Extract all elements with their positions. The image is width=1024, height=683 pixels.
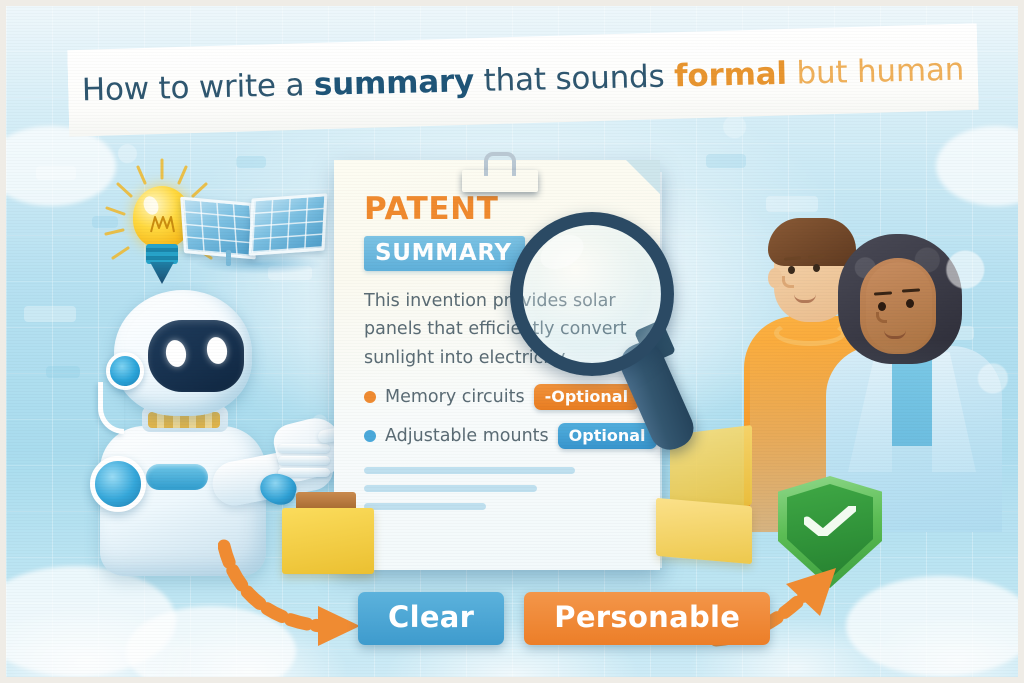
title-part-plain-2: that sounds	[474, 58, 675, 99]
placeholder-line	[364, 503, 486, 510]
woman-eye	[878, 302, 886, 311]
personable-button[interactable]: Personable	[524, 592, 770, 645]
man-eye	[788, 266, 795, 274]
curved-arrow-right-icon	[218, 538, 378, 648]
placeholder-line	[364, 467, 575, 474]
title-part-formal: formal	[674, 55, 788, 94]
title-part-plain-1: How to write a	[81, 66, 314, 107]
document-placeholder-lines	[364, 467, 634, 510]
clear-button[interactable]: Clear	[358, 592, 504, 645]
solar-panel-stand	[226, 250, 231, 266]
title-part-human: but human	[786, 51, 964, 91]
solar-panel-right	[249, 193, 328, 256]
bullet-dot-icon	[364, 430, 376, 442]
man-ear	[768, 268, 782, 288]
robot-visor	[148, 320, 244, 392]
title-part-summary: summary	[313, 63, 474, 103]
robot-shoulder-joint	[90, 456, 146, 512]
illustration-frame: PATENT SUMMARY This invention provides s…	[6, 6, 1018, 677]
magnifier-lens	[510, 212, 674, 376]
solar-panel-shadow	[196, 254, 322, 274]
magnifying-glass-icon[interactable]	[510, 212, 740, 462]
placeholder-line	[364, 485, 537, 492]
screenshot-canvas: PATENT SUMMARY This invention provides s…	[0, 0, 1024, 683]
page-title: How to write a summary that sounds forma…	[82, 54, 965, 106]
bullet-label: Memory circuits	[385, 387, 525, 407]
lightbulb-filament-icon	[148, 214, 176, 234]
man-hair	[768, 218, 856, 266]
solar-panel-left	[180, 197, 256, 260]
document-subheading: SUMMARY	[364, 236, 525, 271]
robot-knuckles	[278, 444, 330, 478]
checkmark-icon	[804, 506, 856, 536]
binder-clip-icon	[462, 152, 538, 192]
man-eye	[813, 264, 820, 272]
man-shirt-collar	[774, 320, 846, 346]
bottom-button-row: Clear Personable	[358, 592, 770, 645]
robot-chest-panel	[146, 464, 208, 490]
robot-antenna	[98, 382, 124, 434]
woman-eye	[906, 299, 914, 308]
bullet-dot-icon	[364, 391, 376, 403]
lightbulb-base	[146, 244, 178, 264]
